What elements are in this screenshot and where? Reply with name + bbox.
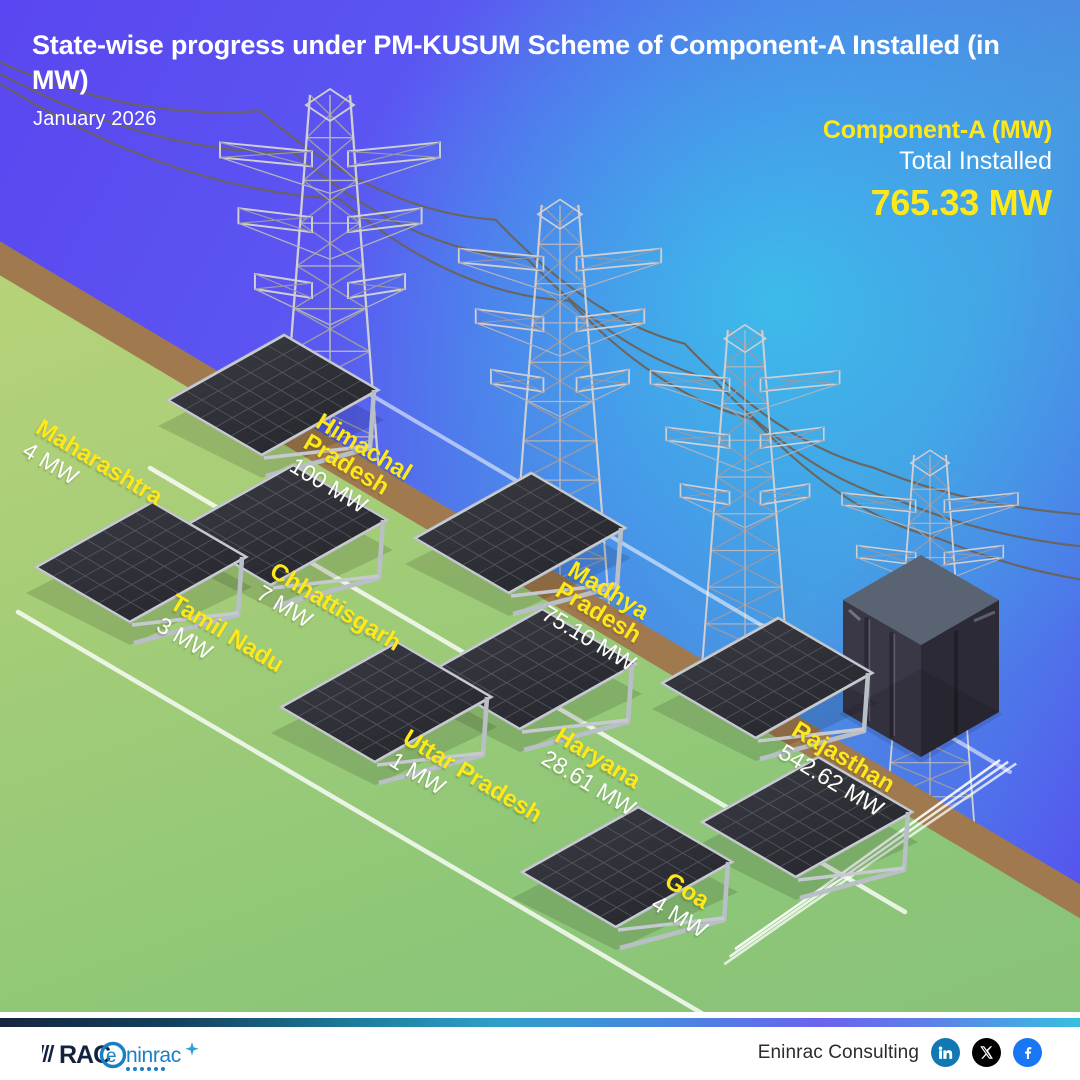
stat-value: 765.33 MW	[823, 182, 1052, 224]
logo-mark: RAC e ninrac	[42, 1036, 210, 1072]
svg-text:e: e	[106, 1046, 117, 1067]
linkedin-icon[interactable]	[931, 1038, 960, 1067]
x-twitter-icon[interactable]	[972, 1038, 1001, 1067]
isometric-scene: Maharashtra4 MWHimachalPradesh100 MWTami…	[0, 0, 1080, 1012]
company-name: Eninrac Consulting	[758, 1042, 919, 1064]
footer-right: Eninrac Consulting	[758, 1038, 1042, 1067]
page-title: State-wise progress under PM-KUSUM Schem…	[32, 28, 1042, 97]
infographic-root: Maharashtra4 MWHimachalPradesh100 MWTami…	[0, 0, 1080, 1080]
svg-text:RAC: RAC	[59, 1041, 111, 1069]
total-installed-card: Component-A (MW) Total Installed 765.33 …	[823, 116, 1052, 224]
footer-divider	[0, 1018, 1080, 1027]
facebook-icon[interactable]	[1013, 1038, 1042, 1067]
stat-sublabel: Total Installed	[823, 147, 1052, 176]
svg-text:ninrac: ninrac	[126, 1044, 181, 1067]
stat-label: Component-A (MW)	[823, 116, 1052, 145]
rac-eninrac-logo[interactable]: RAC e ninrac	[42, 1036, 210, 1072]
page-subtitle: January 2026	[33, 108, 157, 131]
footer-bar: RAC e ninrac Eninrac Consulting	[0, 1027, 1080, 1080]
